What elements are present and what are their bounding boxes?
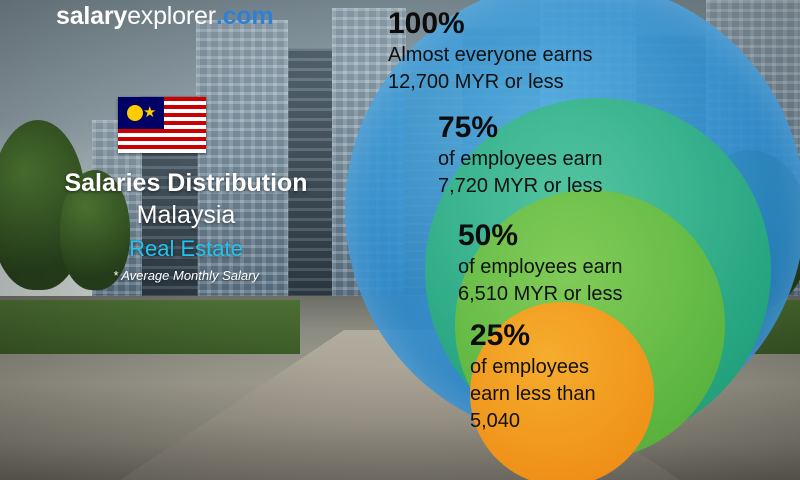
logo-part-salary: salary (56, 2, 127, 30)
percentile-desc-100-line1: Almost everyone earns (388, 42, 762, 69)
malaysia-flag-icon: ★ (118, 97, 206, 153)
percentile-value-25: 25% (470, 318, 654, 354)
heading-block: Salaries Distribution Malaysia Real Esta… (36, 168, 336, 286)
label-percentile-75: 75% of employees earn 7,720 MYR or less (438, 110, 758, 200)
percentile-value-50: 50% (458, 218, 722, 254)
logo-part-domain: .com (216, 2, 274, 30)
site-logo[interactable]: salaryexplorer.com (56, 2, 273, 31)
infographic-root: salaryexplorer.com ★ Salaries Distributi… (0, 0, 800, 480)
percentile-desc-50-line2: 6,510 MYR or less (458, 281, 722, 308)
job-label: Real Estate (36, 232, 336, 266)
percentile-desc-25-line3: 5,040 (470, 408, 654, 435)
country-label: Malaysia (36, 198, 336, 232)
label-percentile-100: 100% Almost everyone earns 12,700 MYR or… (388, 6, 762, 96)
percentile-desc-25-line2: earn less than (470, 381, 654, 408)
percentile-desc-75-line2: 7,720 MYR or less (438, 173, 758, 200)
flag-crescent-icon (127, 105, 143, 121)
percentile-desc-100-line2: 12,700 MYR or less (388, 69, 762, 96)
percentile-desc-75-line1: of employees earn (438, 146, 758, 173)
percentile-desc-25-line1: of employees (470, 354, 654, 381)
percentile-value-100: 100% (388, 6, 762, 42)
label-percentile-50: 50% of employees earn 6,510 MYR or less (458, 218, 722, 308)
flag-star-icon: ★ (143, 107, 156, 119)
logo-part-explorer: explorer (127, 2, 216, 30)
percentile-desc-50-line1: of employees earn (458, 254, 722, 281)
percentile-value-75: 75% (438, 110, 758, 146)
page-title: Salaries Distribution (36, 168, 336, 198)
salary-note: * Average Monthly Salary (36, 266, 336, 286)
label-percentile-25: 25% of employees earn less than 5,040 (470, 318, 654, 435)
